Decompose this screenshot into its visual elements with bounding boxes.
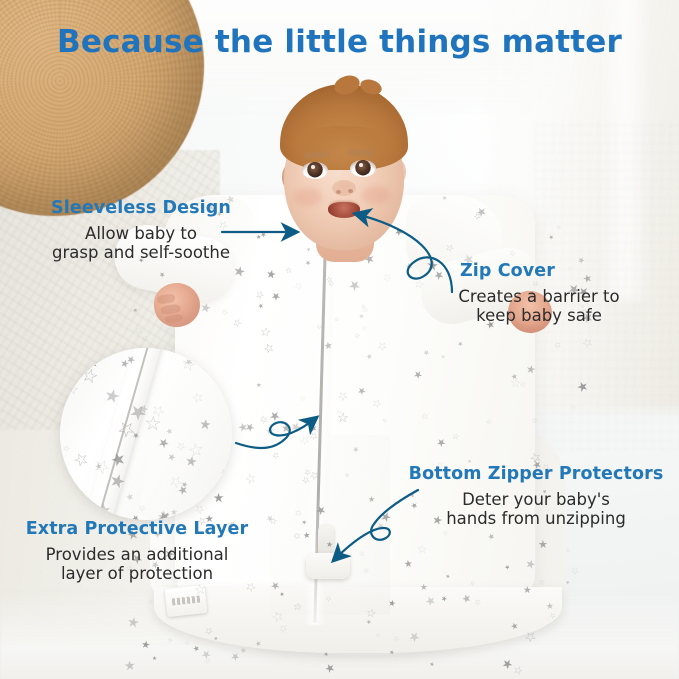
baby-nose — [332, 180, 356, 196]
bottom-zipper-protector — [306, 553, 350, 579]
star-glyph: ★ — [565, 580, 571, 587]
annotation-body-line-1: Deter your baby's — [398, 490, 674, 509]
star-glyph: ★ — [141, 641, 152, 653]
nostril — [336, 190, 341, 194]
baby-eye-left — [302, 162, 328, 179]
star-glyph: ☆ — [553, 341, 564, 352]
star-glyph: ☆ — [166, 637, 174, 645]
star-glyph: ★ — [575, 380, 591, 397]
star-glyph: ★ — [126, 615, 141, 631]
star-glyph: ★ — [152, 657, 157, 663]
annotation-zip-cover: Zip Cover Creates a barrier to keep baby… — [414, 261, 664, 325]
star-glyph: ★ — [547, 234, 555, 242]
finger — [164, 313, 183, 323]
star-glyph: ☆ — [140, 334, 150, 344]
fabric-closeup-inset: ★★★★☆☆★★★★★☆★★☆★★★★☆★★☆☆★★☆★☆★★☆★★★★★★★☆… — [60, 348, 232, 520]
star-glyph: ☆ — [570, 404, 576, 411]
annotation-heading: Zip Cover — [414, 261, 664, 281]
annotation-body-line-2: layer of protection — [6, 564, 268, 583]
annotation-heading: Sleeveless Design — [16, 198, 266, 218]
annotation-bottom-zipper-protectors: Bottom Zipper Protectors Deter your baby… — [398, 464, 674, 528]
baby — [276, 84, 416, 299]
baby-eye-right — [350, 160, 376, 177]
nostril — [348, 189, 353, 193]
baby-cheek-left — [294, 188, 322, 206]
baby-mouth — [328, 202, 360, 218]
finger — [157, 293, 176, 304]
annotation-sleeveless-design: Sleeveless Design Allow baby to grasp an… — [16, 198, 266, 262]
annotation-body-line-1: Creates a barrier to — [414, 287, 664, 306]
star-glyph: ★ — [192, 644, 201, 654]
baby-cheek-right — [362, 186, 390, 204]
eye-glint — [311, 165, 315, 169]
zipper-pull — [318, 525, 334, 555]
star-glyph: ★ — [133, 308, 139, 315]
star-glyph: ☆ — [183, 638, 191, 647]
infographic-canvas: ★★★★☆★☆★★☆☆★☆☆☆★★★☆★★☆☆★★☆★☆☆☆★★☆★★★★☆☆★… — [0, 0, 679, 679]
page-title: Because the little things matter — [0, 24, 679, 60]
eye-glint — [359, 163, 363, 167]
annotation-body-line-2: hands from unzipping — [398, 509, 674, 528]
star-glyph: ★ — [199, 647, 214, 662]
annotation-heading: Extra Protective Layer — [6, 519, 268, 539]
star-glyph: ☆ — [204, 656, 212, 665]
annotation-heading: Bottom Zipper Protectors — [398, 464, 674, 484]
annotation-extra-protective-layer: Extra Protective Layer Provides an addit… — [6, 519, 268, 583]
star-glyph: ☆ — [565, 549, 571, 556]
annotation-body-line-2: keep baby safe — [414, 306, 664, 325]
annotation-body-line-1: Allow baby to — [16, 224, 266, 243]
annotation-body-line-2: grasp and self-soothe — [16, 243, 266, 262]
star-glyph: ☆ — [569, 566, 582, 579]
star-glyph: ★ — [239, 646, 248, 656]
annotation-body-line-1: Provides an additional — [6, 545, 268, 564]
star-glyph: ☆ — [554, 225, 562, 233]
star-glyph: ★ — [228, 650, 242, 664]
star-glyph: ☆ — [148, 600, 154, 607]
star-glyph: ☆ — [131, 326, 144, 340]
